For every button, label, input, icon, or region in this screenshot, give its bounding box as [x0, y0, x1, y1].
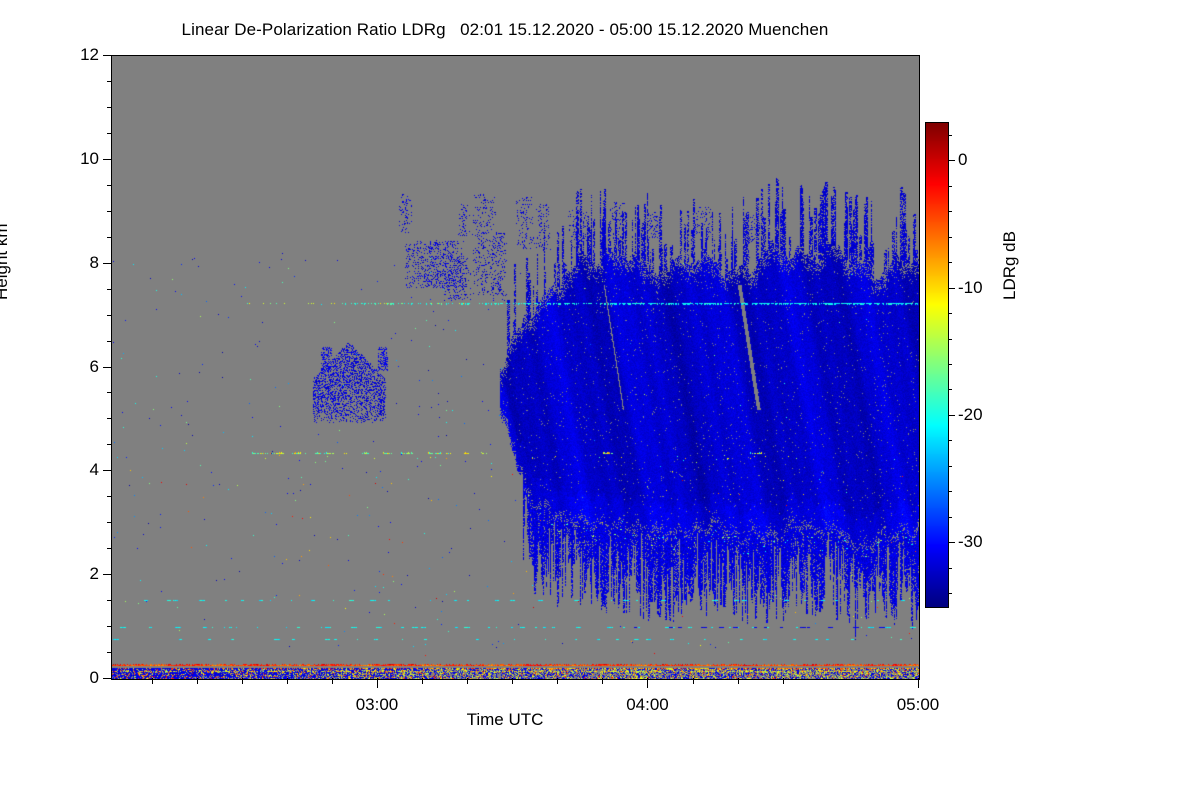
y-axis-minor-tick	[107, 81, 112, 82]
figure-canvas: Linear De-Polarization Ratio LDRg 02:01 …	[0, 0, 1200, 800]
x-axis-minor-tick	[467, 678, 468, 684]
x-axis-minor-tick	[152, 678, 153, 684]
x-axis-minor-tick	[242, 678, 243, 684]
colorbar-gradient	[925, 122, 949, 608]
colorbar-minor-tick	[948, 440, 952, 441]
y-axis-minor-tick	[107, 289, 112, 290]
x-axis-minor-tick	[693, 678, 694, 684]
y-axis-minor-tick	[107, 315, 112, 316]
x-axis-tick	[377, 678, 378, 688]
y-axis-minor-tick	[107, 522, 112, 523]
y-axis-tick-label: 2	[49, 565, 99, 582]
y-axis-minor-tick	[107, 600, 112, 601]
radar-heatmap	[112, 56, 919, 679]
y-axis-tick-label: 12	[49, 46, 99, 63]
y-axis-tick	[103, 263, 112, 264]
x-axis-minor-tick	[512, 678, 513, 684]
y-axis-tick	[103, 55, 112, 56]
colorbar-minor-tick	[948, 186, 952, 187]
plot-area	[111, 55, 920, 680]
x-axis-minor-tick	[422, 678, 423, 684]
colorbar-minor-tick	[948, 517, 952, 518]
colorbar-minor-tick	[948, 491, 952, 492]
colorbar-tick-label: -10	[958, 279, 983, 296]
y-axis-minor-tick	[107, 341, 112, 342]
colorbar-minor-tick	[948, 364, 952, 365]
y-axis-minor-tick	[107, 496, 112, 497]
y-axis-tick-label: 0	[49, 669, 99, 686]
colorbar	[925, 122, 947, 606]
y-axis-tick	[103, 159, 112, 160]
colorbar-title: LDRg dB	[1000, 231, 1020, 300]
colorbar-minor-tick	[948, 593, 952, 594]
colorbar-minor-tick	[948, 568, 952, 569]
colorbar-minor-tick	[948, 211, 952, 212]
colorbar-major-tick	[948, 288, 955, 289]
colorbar-tick-label: -20	[958, 406, 983, 423]
colorbar-minor-tick	[948, 237, 952, 238]
colorbar-minor-tick	[948, 466, 952, 467]
colorbar-minor-tick	[948, 135, 952, 136]
colorbar-minor-tick	[948, 313, 952, 314]
y-axis-tick-label: 6	[49, 358, 99, 375]
colorbar-major-tick	[948, 160, 955, 161]
colorbar-major-tick	[948, 542, 955, 543]
x-axis-minor-tick	[783, 678, 784, 684]
y-axis-tick	[103, 574, 112, 575]
y-axis-tick	[103, 470, 112, 471]
y-axis-tick-label: 4	[49, 461, 99, 478]
colorbar-tick-label: 0	[958, 151, 967, 168]
y-axis-minor-tick	[107, 652, 112, 653]
colorbar-minor-tick	[948, 339, 952, 340]
colorbar-major-tick	[948, 415, 955, 416]
colorbar-tick-label: -30	[958, 533, 983, 550]
x-axis-minor-tick	[332, 678, 333, 684]
y-axis-minor-tick	[107, 392, 112, 393]
colorbar-minor-tick	[948, 389, 952, 390]
x-axis-minor-tick	[602, 678, 603, 684]
y-axis-minor-tick	[107, 237, 112, 238]
y-axis-minor-tick	[107, 626, 112, 627]
x-axis-minor-tick	[197, 678, 198, 684]
x-axis-minor-tick	[738, 678, 739, 684]
x-axis-tick	[647, 678, 648, 688]
y-axis-tick	[103, 367, 112, 368]
y-axis-minor-tick	[107, 133, 112, 134]
y-axis-minor-tick	[107, 185, 112, 186]
y-axis-minor-tick	[107, 211, 112, 212]
y-axis-minor-tick	[107, 444, 112, 445]
y-axis-minor-tick	[107, 107, 112, 108]
plot-title: Linear De-Polarization Ratio LDRg 02:01 …	[0, 20, 1010, 40]
y-axis-label: Height km	[0, 223, 12, 300]
y-axis-tick	[103, 678, 112, 679]
y-axis-tick-label: 8	[49, 254, 99, 271]
y-axis-minor-tick	[107, 548, 112, 549]
x-axis-label: Time UTC	[0, 710, 1010, 730]
x-axis-minor-tick	[557, 678, 558, 684]
y-axis-tick-label: 10	[49, 150, 99, 167]
x-axis-minor-tick	[287, 678, 288, 684]
x-axis-tick	[918, 678, 919, 688]
colorbar-minor-tick	[948, 262, 952, 263]
y-axis-minor-tick	[107, 418, 112, 419]
